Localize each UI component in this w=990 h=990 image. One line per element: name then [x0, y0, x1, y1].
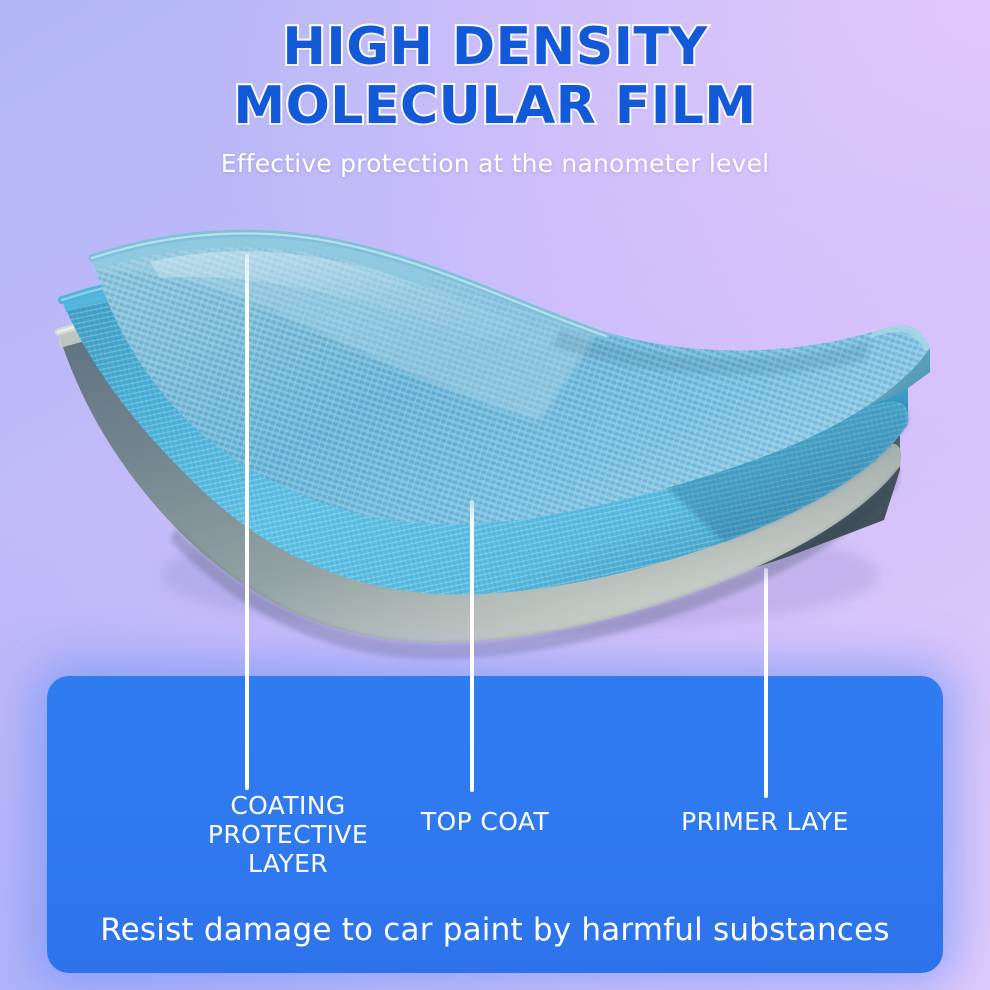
layer-label-coating-protective-layer: COATING PROTECTIVE LAYER: [178, 791, 398, 878]
header-block: HIGH DENSITY MOLECULAR FILM Effective pr…: [0, 0, 990, 178]
panel-tagline: Resist damage to car paint by harmful su…: [47, 912, 943, 948]
poster-canvas: HIGH DENSITY MOLECULAR FILM Effective pr…: [0, 0, 990, 990]
page-title-line-1: HIGH DENSITY: [0, 0, 990, 76]
page-subtitle: Effective protection at the nanometer le…: [0, 135, 990, 178]
page-title-line-2: MOLECULAR FILM: [0, 76, 990, 135]
layer-label-top-coat: TOP COAT: [405, 807, 565, 836]
layer-label-primer-layer: PRIMER LAYE: [660, 807, 870, 836]
